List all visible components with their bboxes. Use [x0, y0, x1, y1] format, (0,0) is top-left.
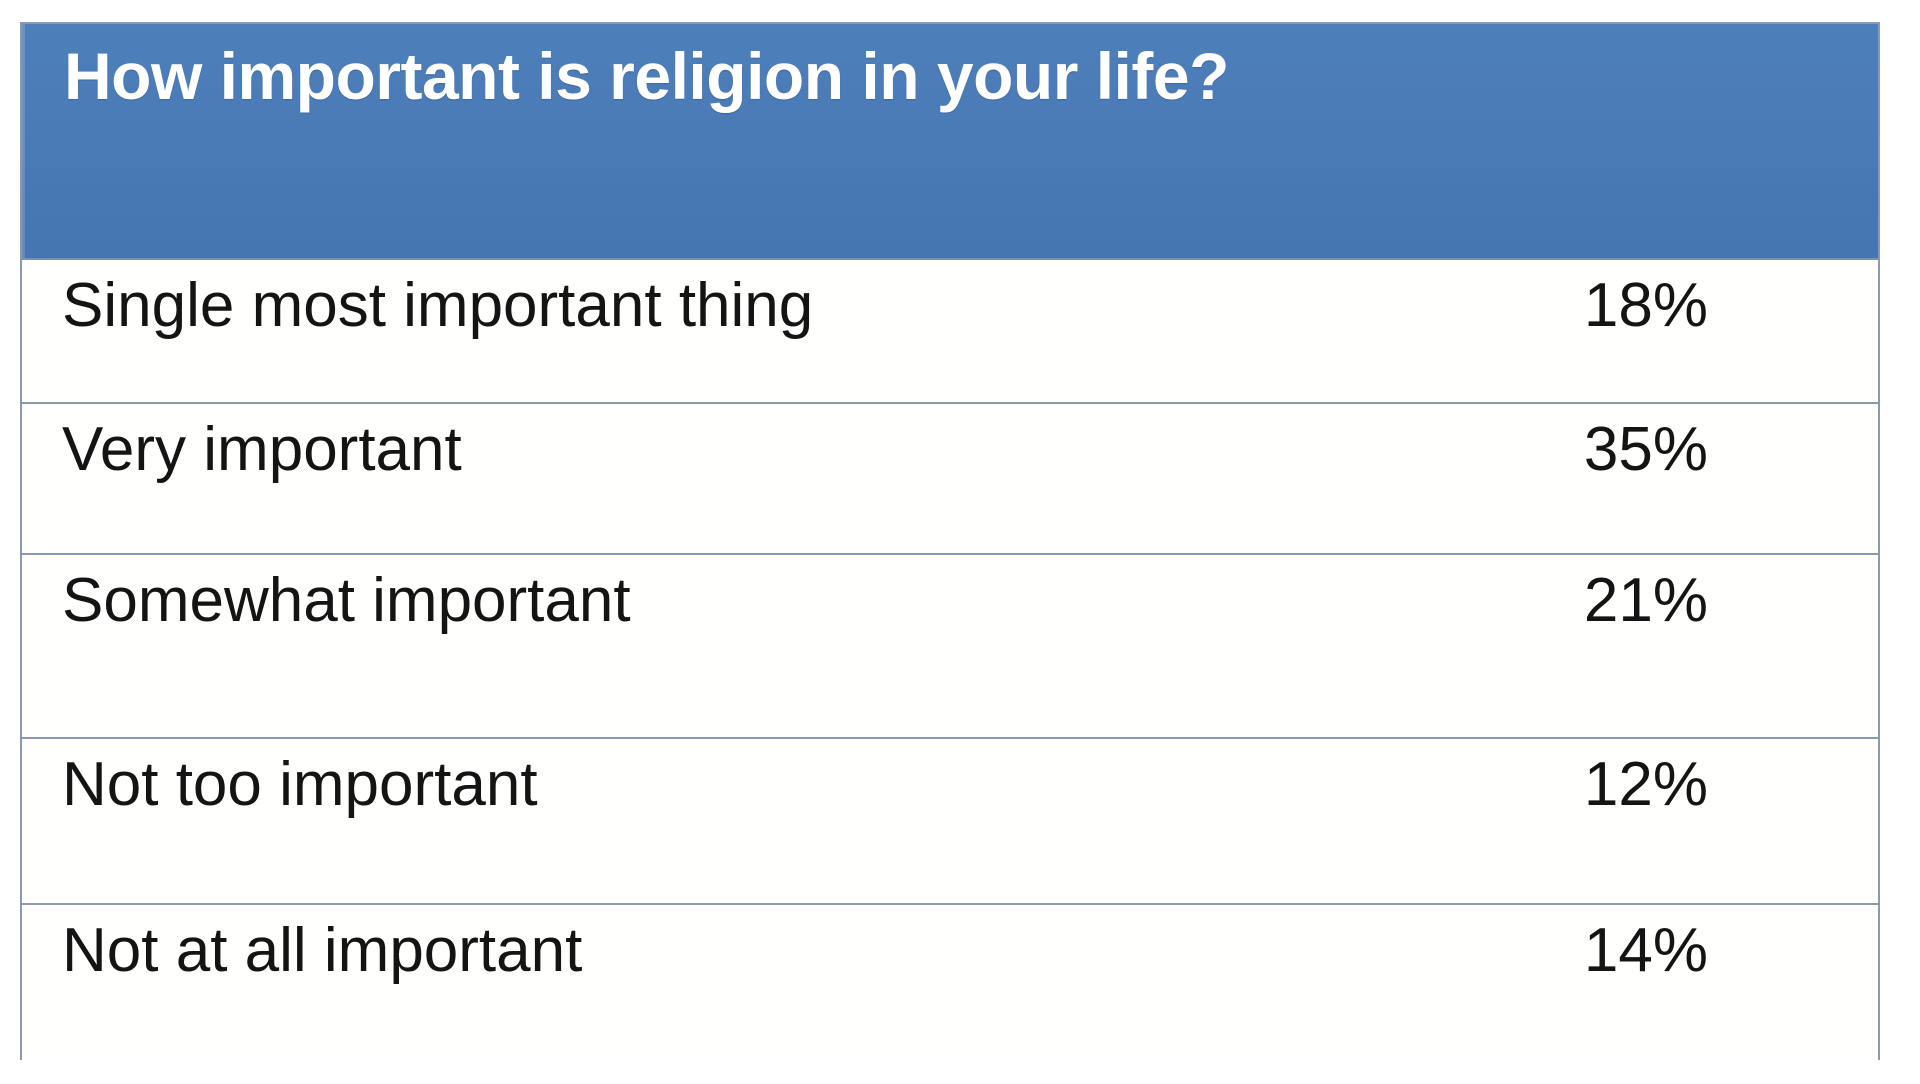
response-percent: 21%: [1288, 555, 1878, 632]
table-row: Very important 35%: [22, 404, 1878, 555]
response-label: Somewhat important: [22, 555, 1288, 632]
screenshot-canvas: How important is religion in your life? …: [0, 0, 1920, 1084]
survey-results-table: How important is religion in your life? …: [20, 22, 1880, 1060]
table-title: How important is religion in your life?: [64, 38, 1229, 114]
table-row: Not too important 12%: [22, 739, 1878, 905]
response-percent: 14%: [1288, 905, 1878, 982]
response-percent: 35%: [1288, 404, 1878, 481]
table-row: Not at all important 14%: [22, 905, 1878, 1060]
response-label: Very important: [22, 404, 1288, 481]
response-percent: 12%: [1288, 739, 1878, 816]
table-row: Somewhat important 21%: [22, 555, 1878, 739]
table-body: Single most important thing 18% Very imp…: [22, 260, 1878, 1060]
table-header-band: How important is religion in your life?: [22, 24, 1878, 260]
table-row: Single most important thing 18%: [22, 260, 1878, 404]
response-label: Not at all important: [22, 905, 1288, 982]
response-label: Not too important: [22, 739, 1288, 816]
response-percent: 18%: [1288, 260, 1878, 337]
response-label: Single most important thing: [22, 260, 1288, 337]
